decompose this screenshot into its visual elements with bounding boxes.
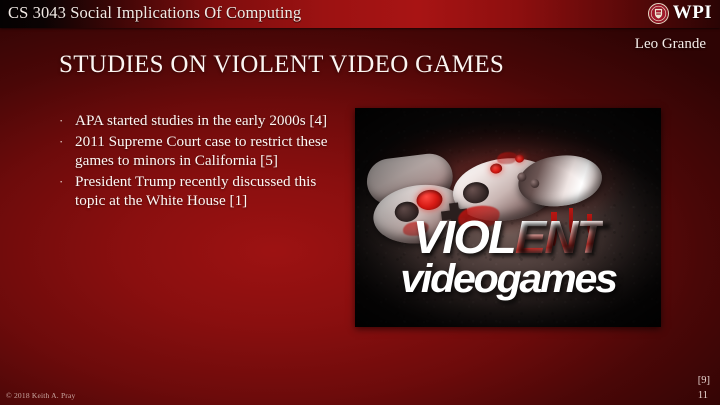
author-name: Leo Grande (635, 36, 706, 53)
list-item: · President Trump recently discussed thi… (56, 172, 334, 211)
wpi-brand: WPI (648, 2, 712, 24)
page-number: 11 (698, 390, 708, 401)
list-item-text: APA started studies in the early 2000s [… (75, 111, 334, 131)
page-title: STUDIES ON VIOLENT VIDEO GAMES (59, 51, 504, 79)
caption-blood-part: ENT (515, 211, 603, 263)
list-item: · 2011 Supreme Court case to restrict th… (56, 132, 334, 171)
bullet-marker-icon: · (56, 172, 75, 192)
citation-reference: [9] (698, 375, 710, 386)
image-caption: VIOLENT videogames (355, 216, 661, 298)
copyright-notice: © 2018 Keith A. Pray (6, 391, 76, 400)
header-bar: CS 3043 Social Implications Of Computing… (0, 0, 720, 28)
list-item-text: President Trump recently discussed this … (75, 172, 334, 211)
list-item-text: 2011 Supreme Court case to restrict thes… (75, 132, 334, 171)
image-caption-line2: videogames (355, 261, 661, 298)
wpi-seal-icon (648, 3, 669, 24)
image-caption-line1: VIOLENT (355, 216, 661, 259)
bullet-list: · APA started studies in the early 2000s… (56, 111, 334, 212)
wpi-wordmark: WPI (673, 2, 712, 24)
violent-videogames-image: VIOLENT videogames (355, 108, 661, 327)
caption-plain-part: VIOL (413, 211, 515, 263)
bullet-marker-icon: · (56, 111, 75, 131)
bullet-marker-icon: · (56, 132, 75, 152)
slide-canvas: CS 3043 Social Implications Of Computing… (0, 0, 720, 405)
list-item: · APA started studies in the early 2000s… (56, 111, 334, 131)
course-title: CS 3043 Social Implications Of Computing (8, 3, 301, 23)
